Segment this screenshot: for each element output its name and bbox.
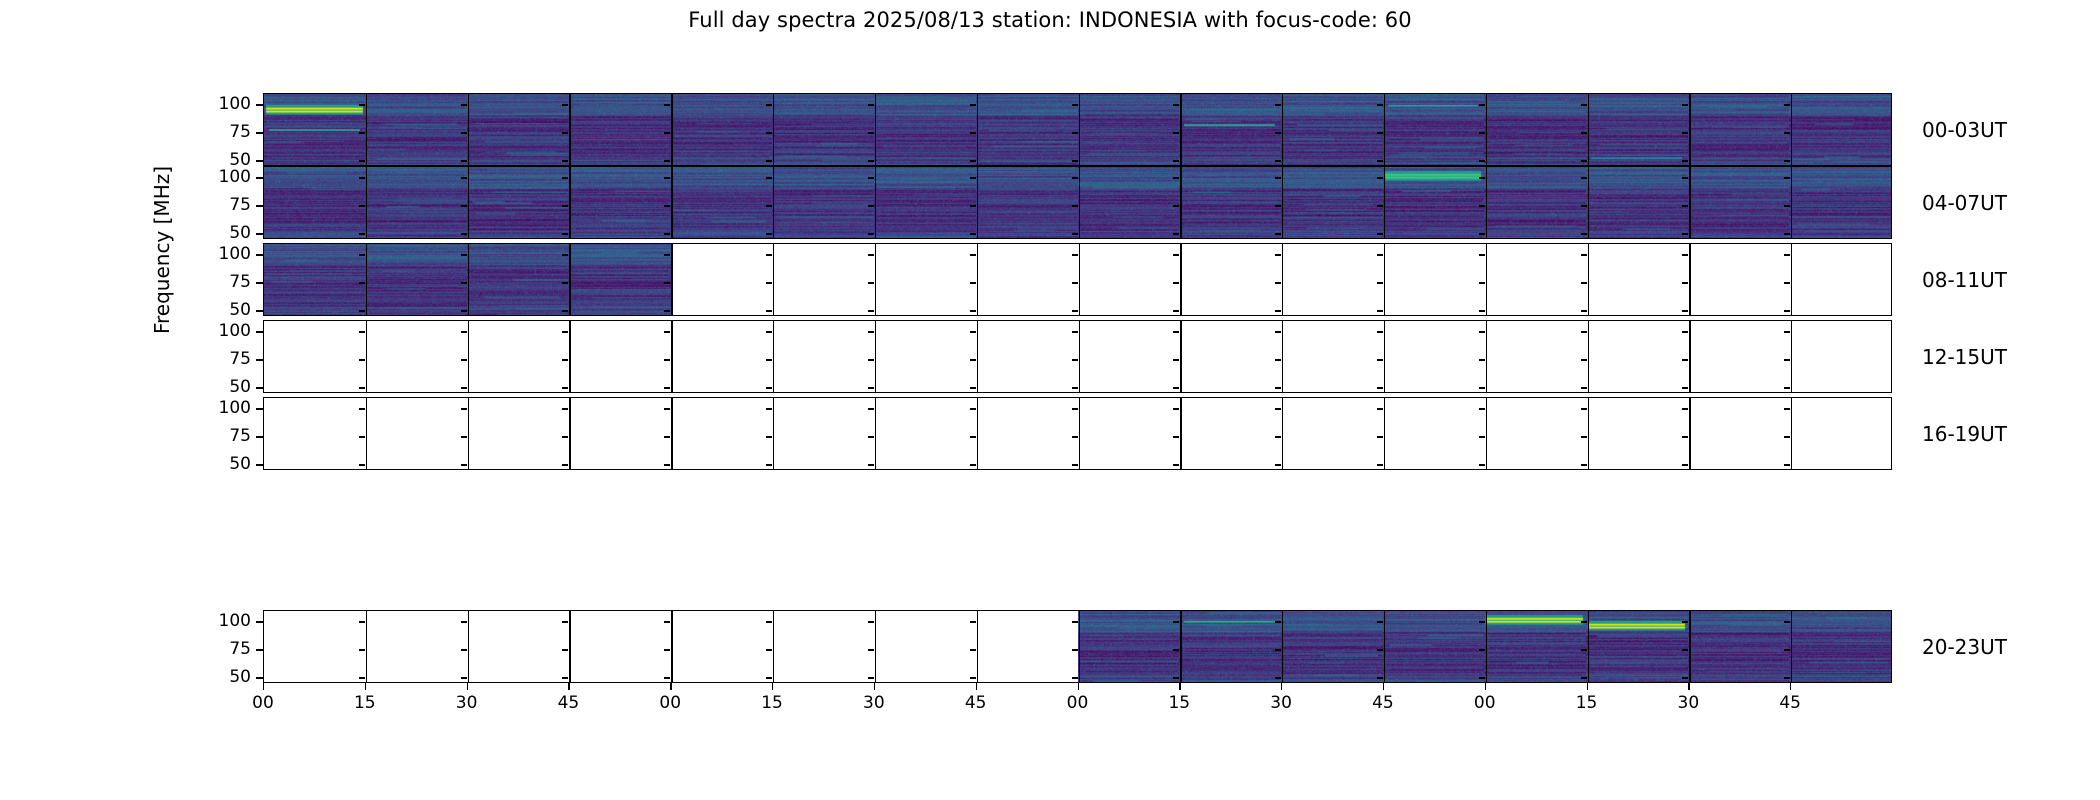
spectrogram-cells <box>264 321 1891 392</box>
tile-separator <box>1486 244 1487 315</box>
y-tick-mark-inner <box>1682 233 1688 234</box>
y-tick-mark-inner <box>1072 464 1078 465</box>
spectrogram-tile <box>1688 167 1790 238</box>
y-tick-label: 100 <box>201 398 251 418</box>
y-tick-mark-inner <box>1072 436 1078 437</box>
tile-separator <box>1689 398 1690 469</box>
y-tick-mark-inner <box>766 331 772 332</box>
y-tick-mark-inner <box>562 408 568 409</box>
y-tick-mark-inner <box>1377 132 1383 133</box>
y-tick-label: 50 <box>201 377 251 397</box>
y-tick-mark-inner <box>868 387 874 388</box>
y-tick-mark <box>256 649 263 650</box>
spectrogram-tile-empty <box>1688 398 1790 469</box>
y-tick-mark-inner <box>1275 677 1281 678</box>
y-tick-mark-inner <box>1377 177 1383 178</box>
spectrogram-tile-empty <box>569 398 671 469</box>
y-tick-mark-inner <box>766 310 772 311</box>
y-tick-mark-inner <box>1784 387 1790 388</box>
tile-separator <box>1689 611 1690 682</box>
y-tick-mark-inner <box>1072 233 1078 234</box>
y-tick-mark-inner <box>1479 233 1485 234</box>
y-tick-mark-inner <box>1581 104 1587 105</box>
y-tick-mark-inner <box>766 436 772 437</box>
y-tick-mark-inner <box>359 621 365 622</box>
spectrogram-axes[interactable] <box>263 320 1892 393</box>
y-tick-mark-inner <box>1377 310 1383 311</box>
subplot-row-12-15ut: 100755012-15UT <box>0 320 2100 393</box>
y-tick-label: 75 <box>201 195 251 215</box>
subplot-row-04-07ut: 100755004-07UT <box>0 166 2100 239</box>
y-tick-mark-inner <box>461 387 467 388</box>
x-tick-mark <box>874 683 875 690</box>
tile-separator <box>1079 321 1080 392</box>
y-tick-mark-inner <box>1377 282 1383 283</box>
y-tick-mark-inner <box>1377 205 1383 206</box>
x-tick-label: 30 <box>1678 693 1700 713</box>
spectrogram-tile-empty <box>1383 244 1485 315</box>
y-tick-mark-inner <box>1682 310 1688 311</box>
y-tick-mark-inner <box>970 621 976 622</box>
y-tick-label: 100 <box>201 167 251 187</box>
y-tick-mark-inner <box>1581 310 1587 311</box>
spectrogram-tile <box>1281 167 1383 238</box>
y-tick-mark-inner <box>359 160 365 161</box>
tile-separator <box>1384 398 1385 469</box>
y-tick-mark <box>256 177 263 178</box>
y-tick-mark-inner <box>868 254 874 255</box>
x-tick-mark <box>1688 683 1689 690</box>
tile-separator <box>1180 167 1181 238</box>
spectrogram-tile <box>467 167 569 238</box>
y-tick-mark-inner <box>1072 310 1078 311</box>
y-tick-mark-inner <box>1682 177 1688 178</box>
y-tick-mark-inner <box>1581 254 1587 255</box>
y-tick-mark-inner <box>1479 310 1485 311</box>
spectrogram-tile-empty <box>1078 398 1180 469</box>
y-tick-mark-inner <box>1275 177 1281 178</box>
y-tick-mark-inner <box>1581 282 1587 283</box>
tile-separator <box>671 398 672 469</box>
tile-separator <box>1282 244 1283 315</box>
y-tick-mark-inner <box>766 160 772 161</box>
y-tick-mark-inner <box>1682 331 1688 332</box>
y-tick-mark-inner <box>562 254 568 255</box>
x-tick-mark <box>263 683 264 690</box>
spectrogram-tile-empty <box>874 244 976 315</box>
y-tick-mark-inner <box>970 310 976 311</box>
y-tick-mark-inner <box>664 621 670 622</box>
y-tick-mark-inner <box>1275 104 1281 105</box>
y-tick-mark-inner <box>1479 677 1485 678</box>
y-tick-mark-inner <box>1784 359 1790 360</box>
y-tick-label: 75 <box>201 426 251 446</box>
x-tick-mark <box>365 683 366 690</box>
spectrogram-tile <box>1586 611 1688 682</box>
y-tick-label: 100 <box>201 321 251 341</box>
x-tick-label: 45 <box>965 693 987 713</box>
spectrogram-tile <box>976 167 1078 238</box>
y-tick-mark-inner <box>664 677 670 678</box>
y-tick-mark-inner <box>1173 160 1179 161</box>
spectrogram-tile-empty <box>1789 244 1891 315</box>
spectrogram-tile <box>1078 611 1180 682</box>
spectrogram-tile <box>1281 611 1383 682</box>
spectrogram-cells <box>264 244 1891 315</box>
spectrogram-tile-empty <box>1688 244 1790 315</box>
y-tick-mark-inner <box>1479 331 1485 332</box>
spectrogram-axes[interactable] <box>263 166 1892 239</box>
y-tick-mark-inner <box>868 331 874 332</box>
tile-separator <box>977 244 978 315</box>
y-tick-mark-inner <box>1377 408 1383 409</box>
y-tick-mark-inner <box>1479 436 1485 437</box>
y-tick-mark-inner <box>1479 254 1485 255</box>
y-tick-mark-inner <box>766 233 772 234</box>
y-tick-mark <box>256 359 263 360</box>
y-tick-mark-inner <box>1682 205 1688 206</box>
y-tick-mark-inner <box>868 408 874 409</box>
spectrogram-tile <box>569 94 671 165</box>
y-tick-mark-inner <box>562 177 568 178</box>
y-tick-mark-inner <box>766 132 772 133</box>
y-tick-mark-inner <box>1377 233 1383 234</box>
y-tick-mark-inner <box>970 331 976 332</box>
y-tick-mark-inner <box>1072 205 1078 206</box>
subplot-row-08-11ut: 100755008-11UT <box>0 243 2100 316</box>
y-tick-mark-inner <box>970 436 976 437</box>
y-tick-mark-inner <box>461 177 467 178</box>
tile-separator <box>1689 94 1690 165</box>
tile-separator <box>1689 167 1690 238</box>
spectrogram-tile-empty <box>1484 321 1586 392</box>
tile-separator <box>875 94 876 165</box>
y-tick-mark-inner <box>1784 408 1790 409</box>
tile-separator <box>366 321 367 392</box>
tile-separator <box>1282 94 1283 165</box>
spectrogram-tile-empty <box>1586 321 1688 392</box>
tile-separator <box>1079 398 1080 469</box>
y-tick-mark-inner <box>1275 387 1281 388</box>
y-tick-mark-inner <box>1173 436 1179 437</box>
y-tick-mark-inner <box>1784 436 1790 437</box>
y-tick-mark-inner <box>562 387 568 388</box>
spectrogram-tile-empty <box>671 611 773 682</box>
y-tick-mark-inner <box>1377 677 1383 678</box>
y-tick-mark-inner <box>1479 621 1485 622</box>
y-tick-mark-inner <box>1275 205 1281 206</box>
y-tick-mark-inner <box>1682 104 1688 105</box>
x-tick-label: 45 <box>1779 693 1801 713</box>
y-tick-mark-inner <box>1173 282 1179 283</box>
tile-separator <box>773 611 774 682</box>
y-tick-mark-inner <box>868 677 874 678</box>
y-tick-mark-inner <box>359 387 365 388</box>
y-tick-mark-inner <box>1072 282 1078 283</box>
y-tick-mark-inner <box>1377 359 1383 360</box>
tile-separator <box>1689 244 1690 315</box>
y-tick-mark-inner <box>1784 205 1790 206</box>
spectrogram-tile <box>366 94 468 165</box>
tile-separator <box>569 167 570 238</box>
spectrogram-tile-empty <box>569 611 671 682</box>
tile-separator <box>1486 94 1487 165</box>
tile-separator <box>1588 398 1589 469</box>
tile-separator <box>1282 611 1283 682</box>
spectrogram-cells <box>264 398 1891 469</box>
y-tick-mark-inner <box>868 104 874 105</box>
tile-separator <box>1384 244 1385 315</box>
y-tick-mark-inner <box>664 282 670 283</box>
spectrogram-tile <box>1179 94 1281 165</box>
spectrogram-tile <box>1484 94 1586 165</box>
y-tick-mark-inner <box>970 359 976 360</box>
tile-separator <box>366 94 367 165</box>
y-tick-mark-inner <box>664 387 670 388</box>
spectrogram-tile-empty <box>671 398 773 469</box>
spectrogram-tile <box>1586 94 1688 165</box>
y-tick-mark-inner <box>868 359 874 360</box>
y-tick-mark-inner <box>1479 205 1485 206</box>
y-tick-mark-inner <box>461 436 467 437</box>
figure-canvas: Full day spectra 2025/08/13 station: IND… <box>0 0 2100 800</box>
tile-separator <box>671 321 672 392</box>
y-tick-mark-inner <box>461 104 467 105</box>
y-tick-mark-inner <box>1275 649 1281 650</box>
spectrogram-tile-empty <box>1078 321 1180 392</box>
tile-separator <box>1791 321 1792 392</box>
x-tick-label: 15 <box>1168 693 1190 713</box>
y-tick-mark-inner <box>970 282 976 283</box>
spectrogram-axes[interactable] <box>263 397 1892 470</box>
y-tick-mark-inner <box>359 436 365 437</box>
spectrogram-tile-empty <box>671 321 773 392</box>
y-tick-mark-inner <box>461 233 467 234</box>
spectrogram-tile <box>264 244 366 315</box>
spectrogram-tile-empty <box>264 321 366 392</box>
spectrogram-tile <box>1688 94 1790 165</box>
y-tick-mark-inner <box>461 205 467 206</box>
spectrogram-tile-empty <box>366 611 468 682</box>
y-tick-mark-inner <box>1173 677 1179 678</box>
y-tick-mark-inner <box>1581 233 1587 234</box>
x-tick-label: 30 <box>863 693 885 713</box>
spectrogram-axes[interactable] <box>263 93 1892 166</box>
spectrogram-tile-empty <box>1383 321 1485 392</box>
y-tick-mark-inner <box>1682 408 1688 409</box>
y-tick-mark-inner <box>766 677 772 678</box>
x-tick-mark <box>1281 683 1282 690</box>
y-tick-mark-inner <box>1682 132 1688 133</box>
y-tick-mark-inner <box>1784 331 1790 332</box>
tile-separator <box>977 398 978 469</box>
y-tick-mark-inner <box>868 282 874 283</box>
y-tick-mark-inner <box>1173 254 1179 255</box>
y-tick-mark-inner <box>1581 649 1587 650</box>
y-tick-mark-inner <box>461 310 467 311</box>
y-tick-mark-inner <box>1479 387 1485 388</box>
y-tick-mark-inner <box>868 205 874 206</box>
y-tick-mark-inner <box>1479 104 1485 105</box>
y-tick-mark-inner <box>1581 436 1587 437</box>
y-tick-mark-inner <box>562 359 568 360</box>
y-tick-mark-inner <box>1275 464 1281 465</box>
y-tick-mark-inner <box>1275 310 1281 311</box>
y-tick-mark-inner <box>562 464 568 465</box>
tile-separator <box>366 611 367 682</box>
y-tick-mark-inner <box>1682 677 1688 678</box>
y-tick-mark-inner <box>970 104 976 105</box>
y-tick-mark-inner <box>359 677 365 678</box>
y-tick-mark <box>256 408 263 409</box>
spectrogram-tile <box>1688 611 1790 682</box>
spectrogram-tile <box>1179 167 1281 238</box>
y-tick-mark-inner <box>1479 160 1485 161</box>
y-tick-label: 100 <box>201 94 251 114</box>
tile-separator <box>468 398 469 469</box>
y-tick-mark-inner <box>664 132 670 133</box>
y-tick-mark-inner <box>970 677 976 678</box>
y-tick-mark-inner <box>461 160 467 161</box>
y-tick-mark-inner <box>1173 177 1179 178</box>
y-tick-mark-inner <box>1275 254 1281 255</box>
x-tick-label: 00 <box>252 693 274 713</box>
spectrogram-tile-empty <box>671 244 773 315</box>
tile-separator <box>1180 611 1181 682</box>
tile-separator <box>1588 94 1589 165</box>
y-tick-mark-inner <box>1682 160 1688 161</box>
spectrogram-tile-empty <box>772 321 874 392</box>
y-tick-mark-inner <box>359 359 365 360</box>
y-tick-mark-inner <box>562 331 568 332</box>
y-tick-mark-inner <box>1173 310 1179 311</box>
tile-separator <box>1384 167 1385 238</box>
y-tick-mark-inner <box>1173 359 1179 360</box>
y-tick-mark-inner <box>461 331 467 332</box>
y-tick-mark-inner <box>970 160 976 161</box>
spectrogram-tile-empty <box>874 398 976 469</box>
y-tick-mark-inner <box>562 677 568 678</box>
y-tick-mark-inner <box>562 310 568 311</box>
spectrogram-tile <box>1078 167 1180 238</box>
spectrogram-tile <box>1383 611 1485 682</box>
tile-separator <box>1486 611 1487 682</box>
y-tick-mark-inner <box>562 649 568 650</box>
y-tick-mark-inner <box>1479 464 1485 465</box>
y-tick-mark-inner <box>1072 177 1078 178</box>
tile-separator <box>366 398 367 469</box>
tile-separator <box>875 244 876 315</box>
tile-separator <box>671 94 672 165</box>
y-tick-mark <box>256 436 263 437</box>
spectrogram-tile <box>1281 94 1383 165</box>
spectrogram-tile-empty <box>976 244 1078 315</box>
tile-separator <box>1079 94 1080 165</box>
y-tick-mark-inner <box>562 233 568 234</box>
y-tick-mark-inner <box>359 408 365 409</box>
y-tick-mark <box>256 387 263 388</box>
tile-separator <box>1384 321 1385 392</box>
y-tick-mark-inner <box>562 104 568 105</box>
y-tick-mark-inner <box>1173 331 1179 332</box>
spectrogram-tile-empty <box>366 398 468 469</box>
tile-separator <box>1079 611 1080 682</box>
spectrogram-tile <box>874 94 976 165</box>
spectrogram-tile-empty <box>1484 244 1586 315</box>
y-tick-mark-inner <box>970 254 976 255</box>
y-tick-mark <box>256 677 263 678</box>
y-tick-mark-inner <box>1275 160 1281 161</box>
y-tick-label: 50 <box>201 223 251 243</box>
spectrogram-tile <box>1179 611 1281 682</box>
y-tick-mark <box>256 310 263 311</box>
spectrogram-tile-empty <box>1078 244 1180 315</box>
spectrogram-tile-empty <box>1789 321 1891 392</box>
x-tick-label: 30 <box>1270 693 1292 713</box>
y-tick-mark-inner <box>664 359 670 360</box>
spectrogram-tile <box>772 167 874 238</box>
y-tick-mark-inner <box>970 464 976 465</box>
x-tick-mark <box>1078 683 1079 690</box>
spectrogram-tile-empty <box>467 398 569 469</box>
y-tick-mark-inner <box>868 621 874 622</box>
spectrogram-tile <box>366 244 468 315</box>
y-tick-mark-inner <box>1784 233 1790 234</box>
tile-separator <box>773 398 774 469</box>
y-tick-mark-inner <box>868 464 874 465</box>
y-tick-mark-inner <box>461 132 467 133</box>
spectrogram-tile-empty <box>366 321 468 392</box>
y-tick-mark-inner <box>1173 387 1179 388</box>
spectrogram-tile-empty <box>1484 398 1586 469</box>
y-tick-mark-inner <box>970 233 976 234</box>
y-tick-mark-inner <box>461 621 467 622</box>
y-tick-mark <box>256 160 263 161</box>
row-label-16-19ut: 16-19UT <box>1922 422 2007 446</box>
x-tick-label: 45 <box>558 693 580 713</box>
spectrogram-tile <box>1078 94 1180 165</box>
tile-separator <box>569 94 570 165</box>
tile-separator <box>1791 398 1792 469</box>
y-tick-mark-inner <box>1682 387 1688 388</box>
tile-separator <box>569 244 570 315</box>
y-tick-mark-inner <box>359 649 365 650</box>
spectrogram-axes[interactable] <box>263 610 1892 683</box>
tile-separator <box>671 611 672 682</box>
x-tick-mark <box>1790 683 1791 690</box>
y-tick-mark-inner <box>1072 621 1078 622</box>
y-tick-mark-inner <box>1479 649 1485 650</box>
spectrogram-axes[interactable] <box>263 243 1892 316</box>
spectrogram-tile-empty <box>1281 244 1383 315</box>
y-tick-mark <box>256 205 263 206</box>
y-tick-mark-inner <box>664 233 670 234</box>
tile-separator <box>1588 244 1589 315</box>
spectrogram-tile-empty <box>976 611 1078 682</box>
y-tick-mark-inner <box>664 160 670 161</box>
y-tick-mark <box>256 233 263 234</box>
y-tick-mark-inner <box>766 464 772 465</box>
y-tick-mark-inner <box>1581 359 1587 360</box>
tile-separator <box>1791 244 1792 315</box>
x-tick-label: 00 <box>659 693 681 713</box>
y-tick-mark-inner <box>1479 177 1485 178</box>
x-tick-label: 00 <box>1067 693 1089 713</box>
y-tick-mark-inner <box>868 233 874 234</box>
x-tick-mark <box>1485 683 1486 690</box>
x-tick-label: 30 <box>456 693 478 713</box>
y-tick-mark-inner <box>1173 132 1179 133</box>
